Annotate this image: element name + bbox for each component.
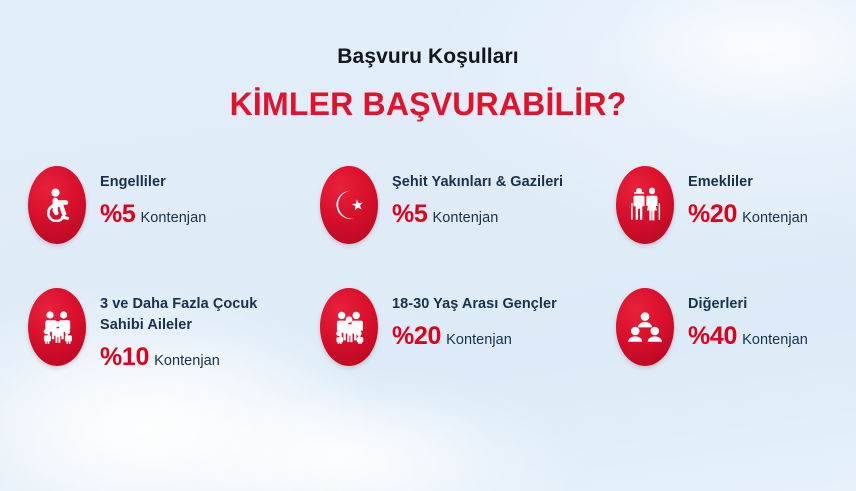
quota-line: %5 Kontenjan — [100, 200, 206, 229]
criteria-item-disabled: Engelliler %5 Kontenjan — [28, 166, 300, 244]
criteria-text: Şehit Yakınları & Gazileri %5 Kontenjan — [392, 166, 563, 229]
criteria-item-large-family: 3 ve Daha Fazla Çocuk Sahibi Aileler %10… — [28, 288, 300, 372]
quota-line: %5 Kontenjan — [392, 200, 563, 229]
criteria-text: 18-30 Yaş Arası Gençler %20 Kontenjan — [392, 288, 557, 351]
quota-value: %5 — [392, 200, 428, 229]
criteria-text: Engelliler %5 Kontenjan — [100, 166, 206, 229]
youth-group-icon — [320, 288, 378, 366]
quota-line: %10 Kontenjan — [100, 343, 300, 372]
quota-value: %20 — [392, 322, 441, 351]
quota-value: %20 — [688, 200, 737, 229]
people-group-icon — [616, 288, 674, 366]
criteria-label: 18-30 Yaş Arası Gençler — [392, 294, 557, 315]
large-family-icon — [28, 288, 86, 366]
criteria-row: 3 ve Daha Fazla Çocuk Sahibi Aileler %10… — [0, 288, 856, 410]
quota-value: %10 — [100, 343, 149, 372]
turkish-flag-crescent-star-icon — [320, 166, 378, 244]
criteria-text: Diğerleri %40 Kontenjan — [688, 288, 808, 351]
quota-word: Kontenjan — [446, 332, 512, 348]
criteria-grid: Engelliler %5 Kontenjan — [0, 166, 856, 410]
quota-word: Kontenjan — [742, 210, 808, 226]
quota-word: Kontenjan — [742, 332, 808, 348]
criteria-item-retirees: Emekliler %20 Kontenjan — [616, 166, 856, 244]
quota-value: %40 — [688, 322, 737, 351]
quota-word: Kontenjan — [433, 210, 499, 226]
quota-line: %40 Kontenjan — [688, 322, 808, 351]
quota-word: Kontenjan — [154, 353, 220, 369]
heading-block: Başvuru Koşulları KİMLER BAŞVURABİLİR? — [0, 44, 856, 124]
criteria-label: Engelliler — [100, 172, 206, 193]
application-criteria-infographic: Başvuru Koşulları KİMLER BAŞVURABİLİR? — [0, 0, 856, 491]
wheelchair-icon — [28, 166, 86, 244]
criteria-item-others: Diğerleri %40 Kontenjan — [616, 288, 856, 366]
criteria-row: Engelliler %5 Kontenjan — [0, 166, 856, 288]
page-title: KİMLER BAŞVURABİLİR? — [0, 85, 856, 123]
criteria-item-youth: 18-30 Yaş Arası Gençler %20 Kontenjan — [320, 288, 612, 366]
criteria-label: 3 ve Daha Fazla Çocuk Sahibi Aileler — [100, 294, 300, 336]
quota-line: %20 Kontenjan — [392, 322, 557, 351]
criteria-label: Diğerleri — [688, 294, 808, 315]
criteria-item-veterans: Şehit Yakınları & Gazileri %5 Kontenjan — [320, 166, 612, 244]
quota-line: %20 Kontenjan — [688, 200, 808, 229]
quota-word: Kontenjan — [141, 210, 207, 226]
page-subtitle: Başvuru Koşulları — [0, 44, 856, 69]
criteria-text: 3 ve Daha Fazla Çocuk Sahibi Aileler %10… — [100, 288, 300, 372]
quota-value: %5 — [100, 200, 136, 229]
elderly-couple-icon — [616, 166, 674, 244]
criteria-label: Şehit Yakınları & Gazileri — [392, 172, 563, 193]
criteria-text: Emekliler %20 Kontenjan — [688, 166, 808, 229]
criteria-label: Emekliler — [688, 172, 808, 193]
